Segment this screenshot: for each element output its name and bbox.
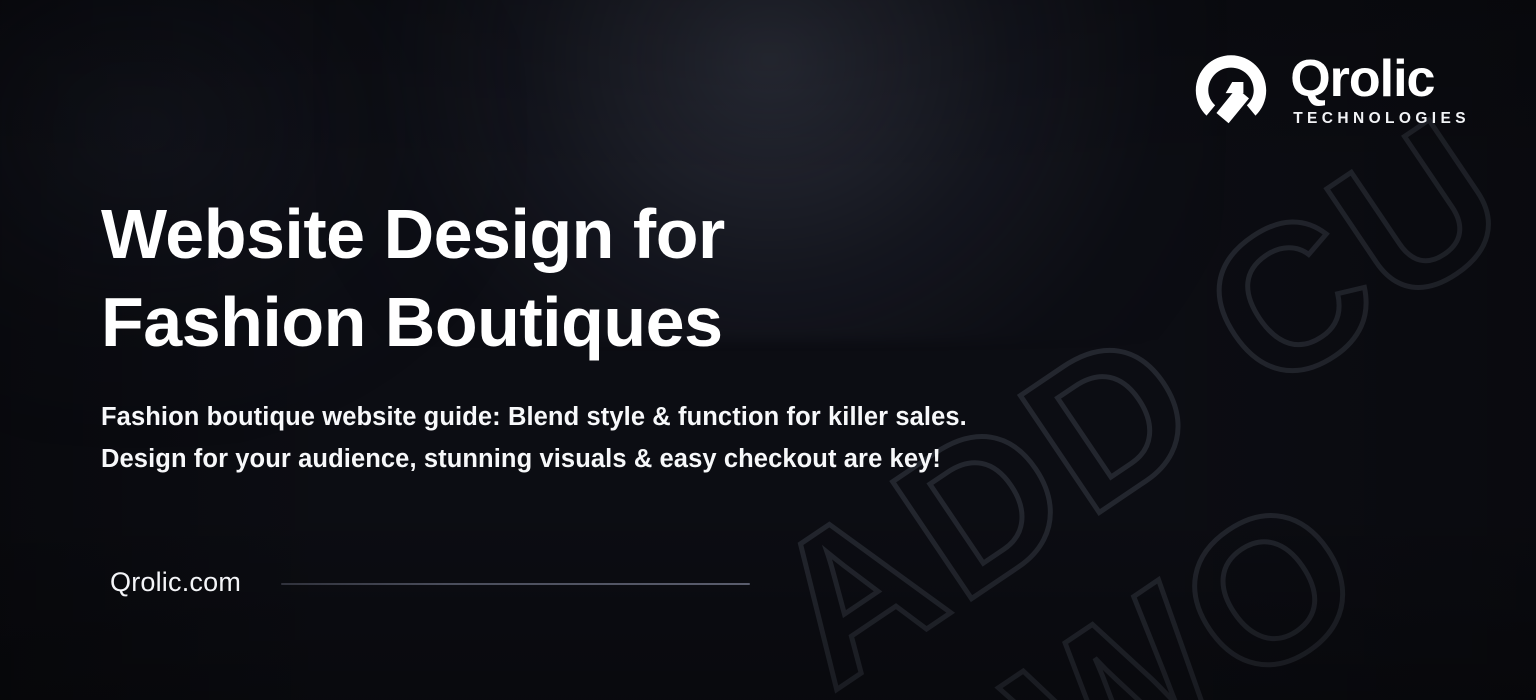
logo-text-block: Qrolic TECHNOLOGIES (1290, 56, 1470, 129)
blog-banner: ADD CU WO Qrolic TECHNOLOGIES Website De… (0, 0, 1536, 700)
watermark-line-2: WO (974, 447, 1405, 700)
footer: Qrolic.com (110, 567, 750, 598)
qrolic-q-arrow-icon (1190, 52, 1272, 132)
brand-logo[interactable]: Qrolic TECHNOLOGIES (1190, 52, 1470, 132)
logo-tagline: TECHNOLOGIES (1293, 110, 1470, 128)
logo-wordmark: Qrolic (1290, 56, 1434, 104)
site-url[interactable]: Qrolic.com (110, 567, 241, 598)
footer-divider (281, 583, 750, 585)
page-title: Website Design for Fashion Boutiques (101, 190, 981, 366)
content-block: Website Design for Fashion Boutiques Fas… (101, 190, 1021, 481)
page-subtitle: Fashion boutique website guide: Blend st… (101, 396, 1001, 480)
